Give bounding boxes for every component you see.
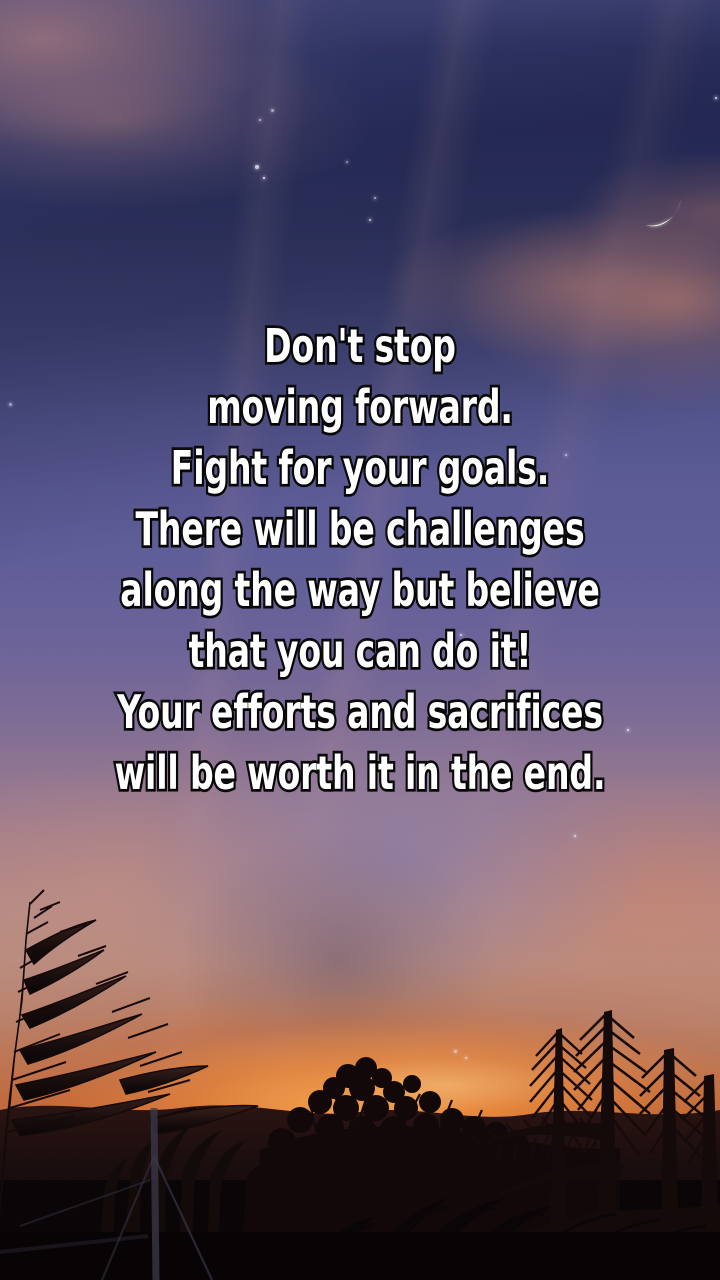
quote-line-7: Your efforts and sacrifices [72, 682, 648, 743]
quote-line-5: along the way but believe [72, 560, 648, 621]
quote-text-block: Don't stop moving forward. Fight for you… [0, 316, 720, 804]
quote-line-1: Don't stop [72, 316, 648, 377]
quote-line-8: will be worth it in the end. [72, 743, 648, 804]
quote-line-2: moving forward. [72, 377, 648, 438]
quote-line-6: that you can do it! [72, 621, 648, 682]
quote-line-4: There will be challenges [72, 499, 648, 560]
quote-line-3: Fight for your goals. [72, 438, 648, 499]
wallpaper-canvas: Don't stop moving forward. Fight for you… [0, 0, 720, 1280]
